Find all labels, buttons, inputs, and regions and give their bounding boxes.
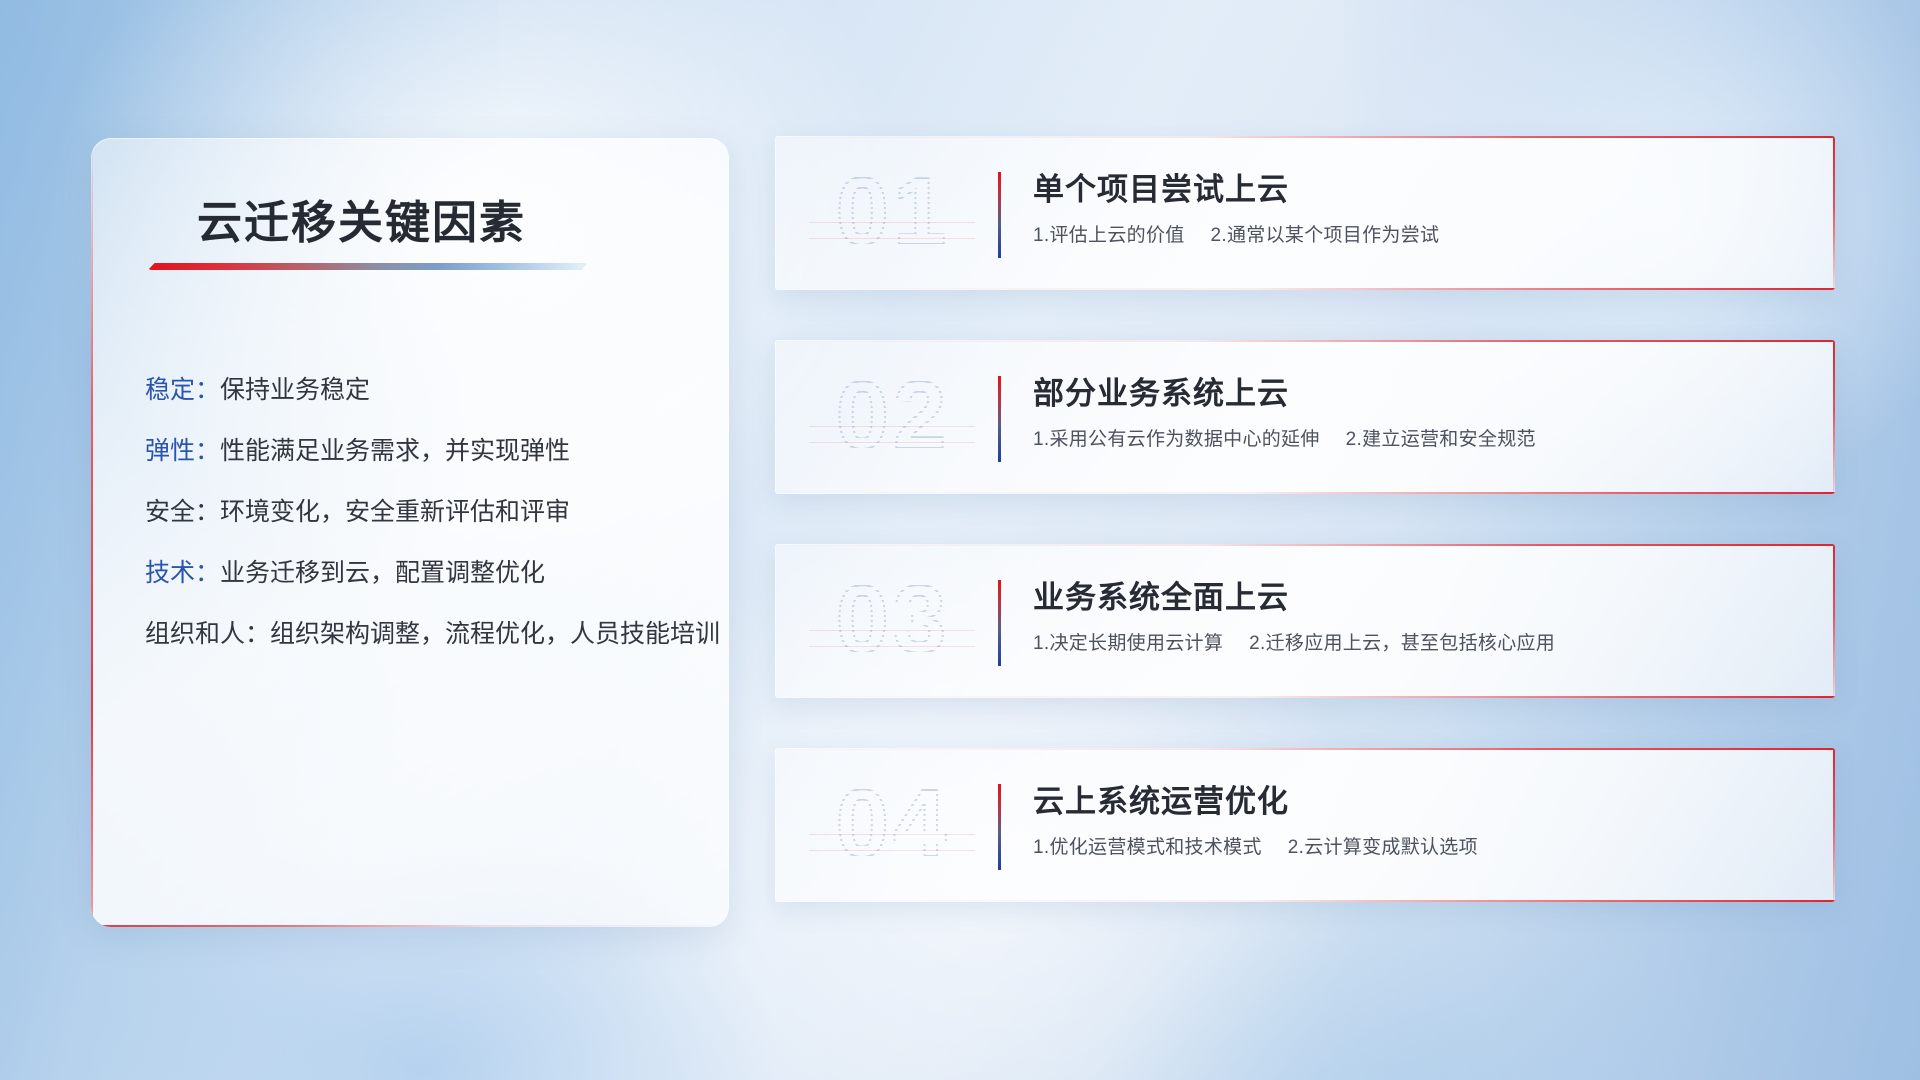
card-bottom-accent — [775, 900, 1835, 902]
card-right-accent — [1833, 544, 1835, 698]
page-title: 云迁移关键因素 — [197, 186, 526, 251]
stage-number: 01 — [803, 152, 983, 272]
stage-point-1: 1.评估上云的价值 — [1033, 225, 1185, 246]
card-bottom-accent — [775, 288, 1835, 290]
key-factors-panel: 云迁移关键因素 稳定：保持业务稳定弹性：性能满足业务需求，并实现弹性安全：环境变… — [91, 138, 729, 927]
stage-point-1: 1.采用公有云作为数据中心的延伸 — [1033, 429, 1320, 450]
stage-number: 02 — [803, 356, 983, 476]
stages-card-list: 01单个项目尝试上云1.评估上云的价值2.通常以某个项目作为尝试02部分业务系统… — [775, 136, 1835, 952]
key-factor-row: 技术：业务迁移到云，配置调整优化 — [145, 543, 685, 604]
key-factor-text: 组织架构调整，流程优化，人员技能培训 — [270, 620, 720, 648]
key-factor-row: 组织和人：组织架构调整，流程优化，人员技能培训 — [145, 604, 685, 665]
key-factor-label: 技术： — [145, 559, 220, 587]
stage-card[interactable]: 03业务系统全面上云1.决定长期使用云计算2.迁移应用上云，甚至包括核心应用 — [775, 544, 1835, 698]
stage-description: 1.评估上云的价值2.通常以某个项目作为尝试 — [1033, 220, 1439, 247]
stage-point-1: 1.优化运营模式和技术模式 — [1033, 837, 1262, 858]
stage-point-2: 2.云计算变成默认选项 — [1288, 837, 1478, 858]
card-bottom-accent — [775, 696, 1835, 698]
key-factor-label: 稳定： — [145, 376, 220, 404]
card-right-accent — [1833, 136, 1835, 290]
card-bottom-accent — [775, 492, 1835, 494]
card-top-accent — [775, 340, 1835, 342]
stage-title: 部分业务系统上云 — [1033, 368, 1289, 413]
key-factors-list: 稳定：保持业务稳定弹性：性能满足业务需求，并实现弹性安全：环境变化，安全重新评估… — [145, 360, 685, 665]
stage-title: 业务系统全面上云 — [1033, 572, 1289, 617]
stage-point-2: 2.建立运营和安全规范 — [1346, 429, 1536, 450]
key-factor-row: 安全：环境变化，安全重新评估和评审 — [145, 482, 685, 543]
card-top-accent — [775, 748, 1835, 750]
card-right-accent — [1833, 748, 1835, 902]
key-factor-text: 业务迁移到云，配置调整优化 — [220, 559, 545, 587]
card-right-accent — [1833, 340, 1835, 494]
stage-point-1: 1.决定长期使用云计算 — [1033, 633, 1223, 654]
key-factor-label: 组织和人： — [145, 620, 270, 648]
key-factor-text: 保持业务稳定 — [220, 376, 370, 404]
key-factor-row: 弹性：性能满足业务需求，并实现弹性 — [145, 421, 685, 482]
stage-number: 04 — [803, 764, 983, 884]
card-top-accent — [775, 544, 1835, 546]
stage-description: 1.采用公有云作为数据中心的延伸2.建立运营和安全规范 — [1033, 424, 1536, 451]
card-divider-bar — [998, 172, 1001, 258]
card-divider-bar — [998, 784, 1001, 870]
stage-point-2: 2.迁移应用上云，甚至包括核心应用 — [1249, 633, 1555, 654]
stage-number: 03 — [803, 560, 983, 680]
stage-title: 单个项目尝试上云 — [1033, 164, 1289, 209]
stage-card[interactable]: 01单个项目尝试上云1.评估上云的价值2.通常以某个项目作为尝试 — [775, 136, 1835, 290]
key-factor-row: 稳定：保持业务稳定 — [145, 360, 685, 421]
stage-description: 1.优化运营模式和技术模式2.云计算变成默认选项 — [1033, 832, 1478, 859]
stage-card[interactable]: 02部分业务系统上云1.采用公有云作为数据中心的延伸2.建立运营和安全规范 — [775, 340, 1835, 494]
stage-point-2: 2.通常以某个项目作为尝试 — [1211, 225, 1440, 246]
key-factor-text: 性能满足业务需求，并实现弹性 — [220, 437, 570, 465]
stage-title: 云上系统运营优化 — [1033, 776, 1289, 821]
card-divider-bar — [998, 580, 1001, 666]
card-top-accent — [775, 136, 1835, 138]
key-factor-text: 环境变化，安全重新评估和评审 — [220, 498, 570, 526]
title-underline-accent — [148, 263, 588, 270]
card-divider-bar — [998, 376, 1001, 462]
stage-card[interactable]: 04云上系统运营优化1.优化运营模式和技术模式2.云计算变成默认选项 — [775, 748, 1835, 902]
key-factor-label: 安全： — [145, 498, 220, 526]
key-factor-label: 弹性： — [145, 437, 220, 465]
stage-description: 1.决定长期使用云计算2.迁移应用上云，甚至包括核心应用 — [1033, 628, 1555, 655]
